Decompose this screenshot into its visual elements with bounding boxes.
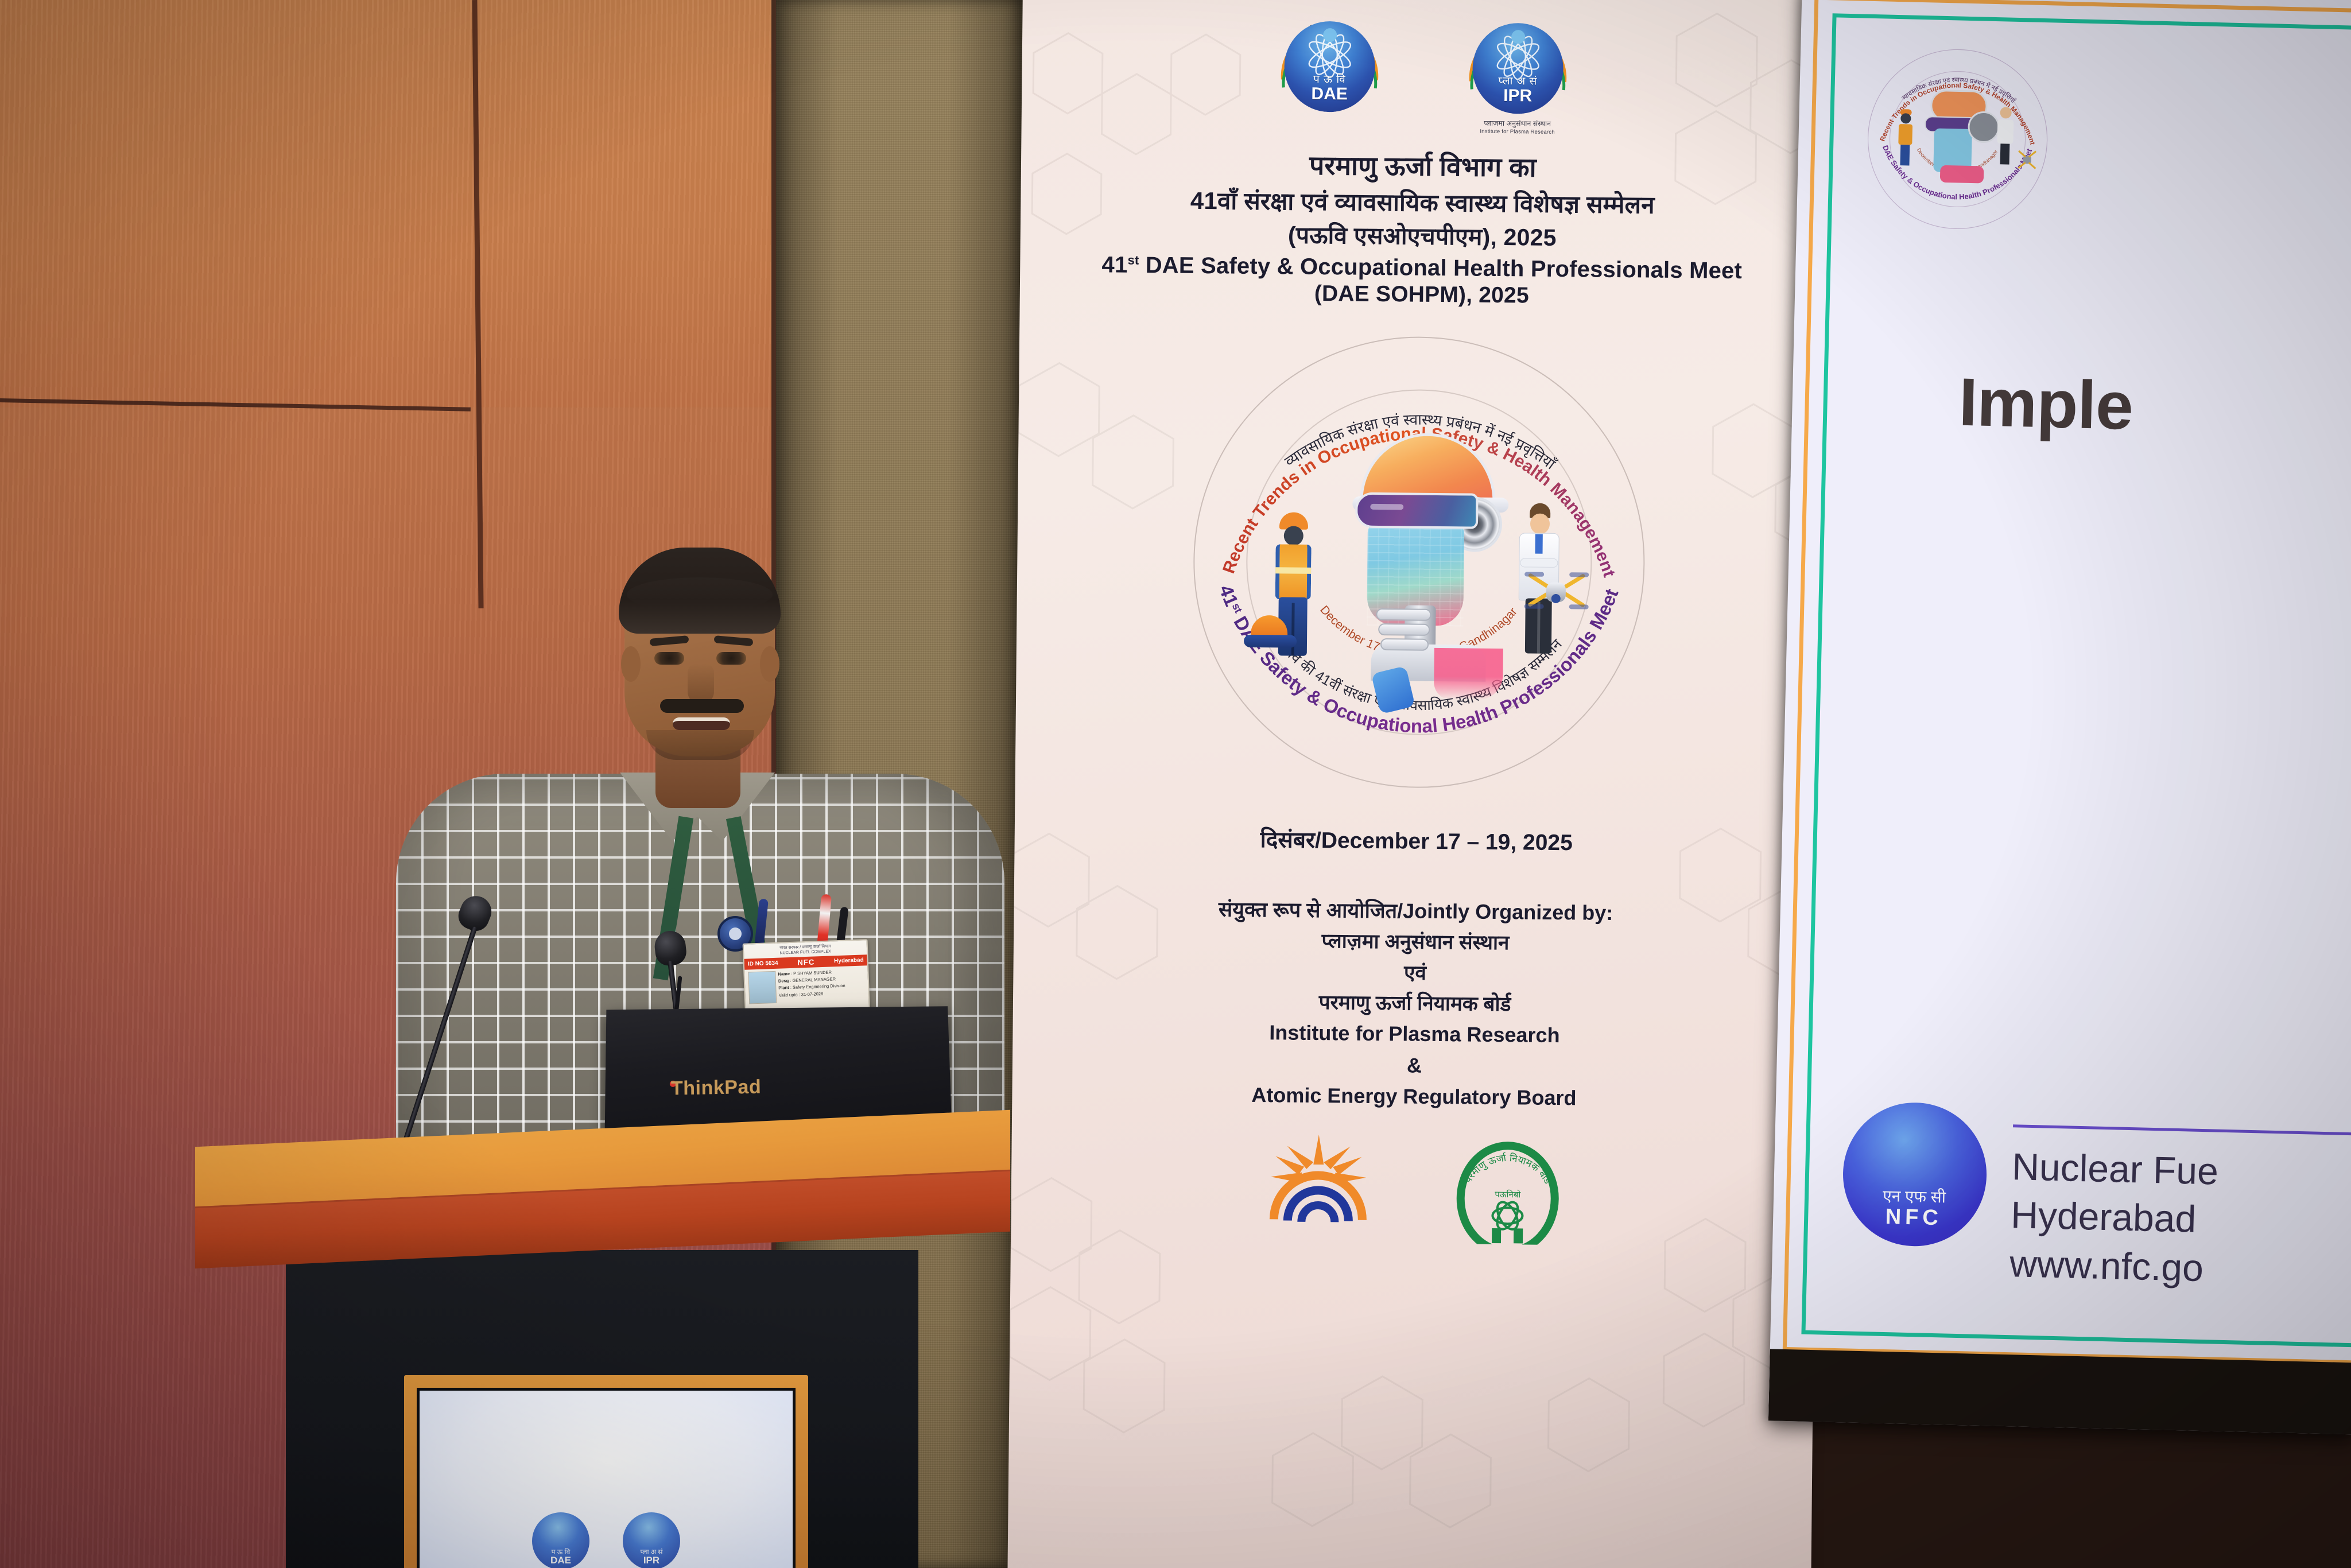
ipr-sun-logo: [1263, 1133, 1374, 1243]
speaker-mouth: [673, 717, 730, 730]
speaker-chin-shadow: [646, 730, 754, 760]
speaker-hair: [619, 548, 781, 634]
logo-illustration: [1257, 426, 1581, 698]
confidence-monitor-bezel: प ऊ वि DAE प्ला अ सं IPR: [417, 1388, 796, 1568]
banner-organizers: संयुक्त रूप से आयोजित/Jointly Organized …: [1012, 892, 1818, 1117]
banner-emblem-row: राष्ट्र की सेवा में परमाणु ATOMS IN THE …: [1022, 5, 1826, 139]
speaker-eye-right: [716, 652, 746, 665]
ipr-hindi-abbr: प्ला अ सं: [1498, 75, 1537, 87]
ipr-disc: प्ला अ सं IPR: [1472, 23, 1564, 115]
screen-lower-shadow: [1768, 1349, 2351, 1434]
slide-footer: एन एफ सी NFC Nuclear Fue Hyderabad www.n…: [1841, 1101, 2351, 1297]
nfc-emblem: एन एफ सी NFC: [1841, 1101, 1988, 1248]
slide-logo-worker: [1898, 109, 1912, 166]
nfc-abbr: NFC: [1885, 1204, 1942, 1232]
podium: प ऊ वि DAE प्ला अ सं IPR: [172, 1108, 1033, 1568]
ipr-emblem: राष्ट्र की सेवा में परमाणु ATOMS IN THE …: [1461, 9, 1575, 137]
monitor-dae-abbr: DAE: [550, 1555, 571, 1566]
banner-title-hindi-2: 41वाँ संरक्षा एवं व्यावसायिक स्वास्थ्य व…: [1021, 182, 1824, 222]
dae-abbr: DAE: [1311, 84, 1348, 103]
slide-logo-robot: [1924, 90, 2000, 184]
nfc-line-2: www.nfc.go: [2009, 1239, 2351, 1297]
nfc-divider: [2013, 1124, 2351, 1136]
monitor-ipr-emblem: प्ला अ सं IPR: [623, 1512, 680, 1568]
projection-screen: व्यावसायिक संरक्षा एवं स्वास्थ्य प्रबंधन…: [1768, 0, 2351, 1434]
robot-paint-drip: [1434, 648, 1503, 700]
banner-date-line: दिसंबर/December 17 – 19, 2025: [1014, 821, 1818, 859]
dae-disc: प ऊ वि DAE: [1284, 21, 1376, 112]
robot-vr-visor: [1355, 492, 1479, 529]
hard-hat-icon: [1244, 615, 1297, 655]
slide-logo-doctor: [1997, 107, 2014, 165]
dae-hindi-abbr: प ऊ वि: [1313, 73, 1346, 85]
speaker-eye-left: [654, 652, 684, 665]
robot-hand: [1374, 605, 1444, 681]
speaker-ear-right: [760, 646, 779, 682]
badge-org: NFC: [797, 957, 814, 967]
event-banner: राष्ट्र की सेवा में परमाणु ATOMS IN THE …: [1007, 0, 1826, 1568]
ipr-caption-english: Institute for Plasma Research: [1461, 128, 1574, 137]
conference-photo-scene: राष्ट्र की सेवा में परमाणु ATOMS IN THE …: [0, 0, 2351, 1568]
banner-bottom-logos: परमाणु ऊर्जा नियामक बोर्ड पऊनिबो: [1011, 1131, 1815, 1247]
ipr-abbr: IPR: [1503, 87, 1532, 105]
conference-logo: व्यावसायिक संरक्षा एवं स्वास्थ्य प्रबंधन…: [1179, 330, 1660, 794]
monitor-dae-emblem: प ऊ वि DAE: [532, 1512, 589, 1568]
monitor-ipr-abbr: IPR: [643, 1555, 659, 1566]
drone-icon: [1526, 568, 1588, 614]
speaker-ear-left: [621, 646, 641, 682]
slide-title: Imple: [1958, 363, 2133, 445]
wood-wall-panel-upper: [0, 0, 776, 407]
banner-title-hindi-1: परमाणु ऊर्जा विभाग का: [1021, 144, 1825, 187]
confidence-monitor-screen: प ऊ वि DAE प्ला अ सं IPR: [420, 1391, 793, 1568]
robot-head-icon: [1353, 432, 1499, 680]
banner-title-hindi-3: (पऊवि एसओएचपीएम), 2025: [1021, 216, 1824, 255]
nfc-hindi-abbr: एन एफ सी: [1883, 1188, 1946, 1206]
aerb-logo: परमाणु ऊर्जा नियामक बोर्ड पऊनिबो: [1453, 1135, 1563, 1245]
slide-conference-logo: व्यावसायिक संरक्षा एवं स्वास्थ्य प्रबंधन…: [1861, 44, 2055, 238]
dae-emblem: राष्ट्र की सेवा में परमाणु ATOMS IN THE …: [1273, 7, 1387, 112]
banner-title-block: परमाणु ऊर्जा विभाग का 41वाँ संरक्षा एवं …: [1020, 144, 1825, 311]
nfc-address-block: Nuclear Fue Hyderabad www.nfc.go: [2009, 1105, 2351, 1297]
speaker-moustache: [660, 699, 744, 713]
confidence-monitor-frame: प ऊ वि DAE प्ला अ सं IPR: [404, 1375, 808, 1568]
aerb-abbr: पऊनिबो: [1495, 1189, 1521, 1200]
thinkpad-logo: ThinkPad: [671, 1076, 762, 1100]
badge-location: Hyderabad: [834, 957, 864, 964]
